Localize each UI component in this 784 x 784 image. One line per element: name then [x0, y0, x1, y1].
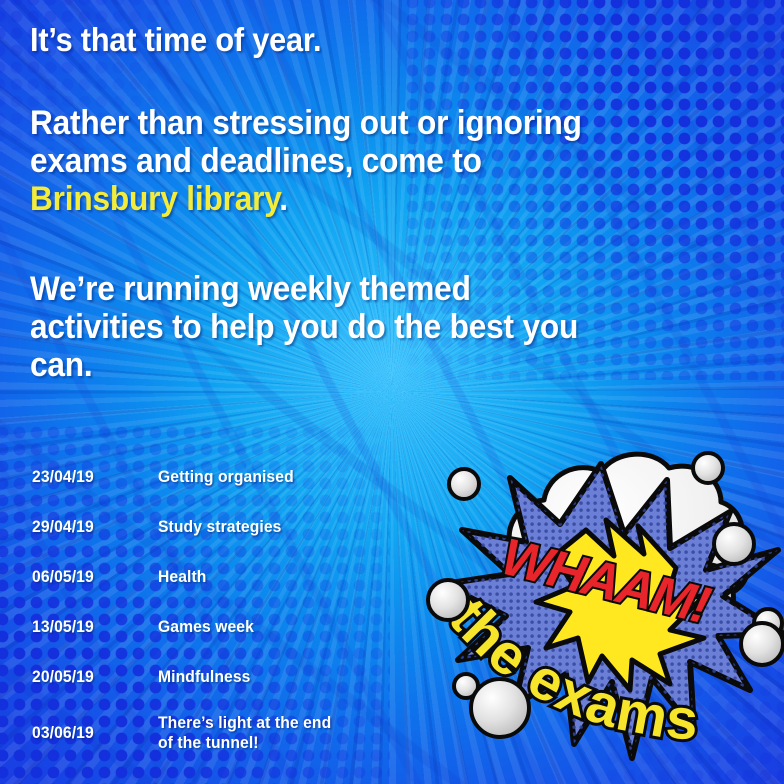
headline-line-1: It’s that time of year. — [30, 22, 321, 59]
headline-paragraph-2-text: Rather than stressing out or ignoring ex… — [30, 104, 582, 180]
schedule-title: Study strategies — [158, 517, 281, 537]
schedule-date: 29/04/19 — [32, 518, 152, 537]
schedule-date: 23/04/19 — [32, 468, 152, 487]
poster: It’s that time of year. Rather than stre… — [0, 0, 784, 784]
schedule-date: 13/05/19 — [32, 618, 152, 637]
schedule-row: 29/04/19 Study strategies — [32, 502, 452, 552]
brinsbury-library-brand: Brinsbury library — [30, 180, 279, 218]
schedule-date: 03/06/19 — [32, 724, 152, 743]
schedule-list: 23/04/19 Getting organised 29/04/19 Stud… — [32, 452, 452, 764]
schedule-title: Mindfulness — [158, 667, 250, 687]
schedule-date: 06/05/19 — [32, 568, 152, 587]
schedule-title: There’s light at the end of the tunnel! — [158, 713, 331, 753]
comic-burst-graphic: WHAAM! the exams — [418, 438, 784, 784]
schedule-title: Games week — [158, 617, 254, 637]
headline-paragraph-2: Rather than stressing out or ignoring ex… — [30, 104, 765, 218]
headline-paragraph-3: We’re running weekly themed activities t… — [30, 270, 765, 384]
schedule-row: 06/05/19 Health — [32, 552, 452, 602]
schedule-row: 20/05/19 Mindfulness — [32, 652, 452, 702]
schedule-title: Getting organised — [158, 467, 294, 487]
schedule-title: Health — [158, 567, 206, 587]
schedule-row: 23/04/19 Getting organised — [32, 452, 452, 502]
schedule-row: 03/06/19 There’s light at the end of the… — [32, 702, 452, 764]
schedule-row: 13/05/19 Games week — [32, 602, 452, 652]
schedule-date: 20/05/19 — [32, 668, 152, 687]
brand-period: . — [279, 180, 288, 218]
